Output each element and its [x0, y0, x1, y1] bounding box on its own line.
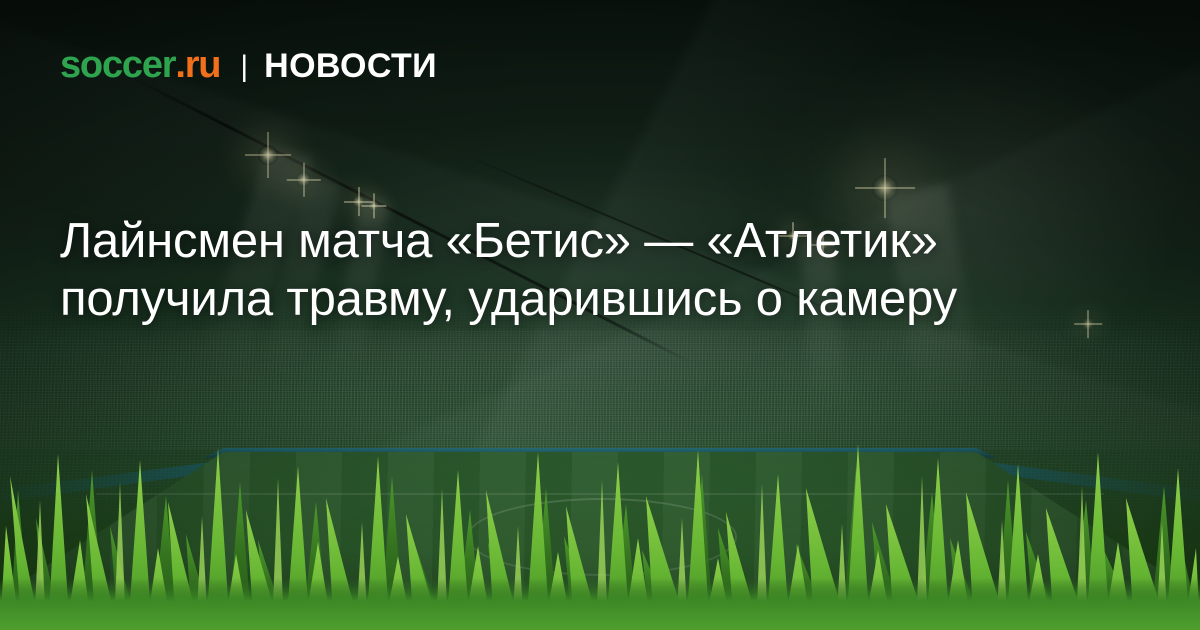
- logo-separator: |: [240, 52, 248, 82]
- site-logo[interactable]: soccer.ru | НОВОСТИ: [60, 46, 437, 84]
- logo-soccer-text: soccer: [60, 46, 175, 84]
- logo-ru-text: .ru: [175, 46, 220, 84]
- social-share-card: soccer.ru | НОВОСТИ Лайнсмен матча «Бети…: [0, 0, 1200, 630]
- section-label-news: НОВОСТИ: [264, 49, 437, 83]
- card-content: soccer.ru | НОВОСТИ Лайнсмен матча «Бети…: [0, 0, 1200, 630]
- page-title: Лайнсмен матча «Бетис» — «Атлетик» получ…: [60, 212, 960, 328]
